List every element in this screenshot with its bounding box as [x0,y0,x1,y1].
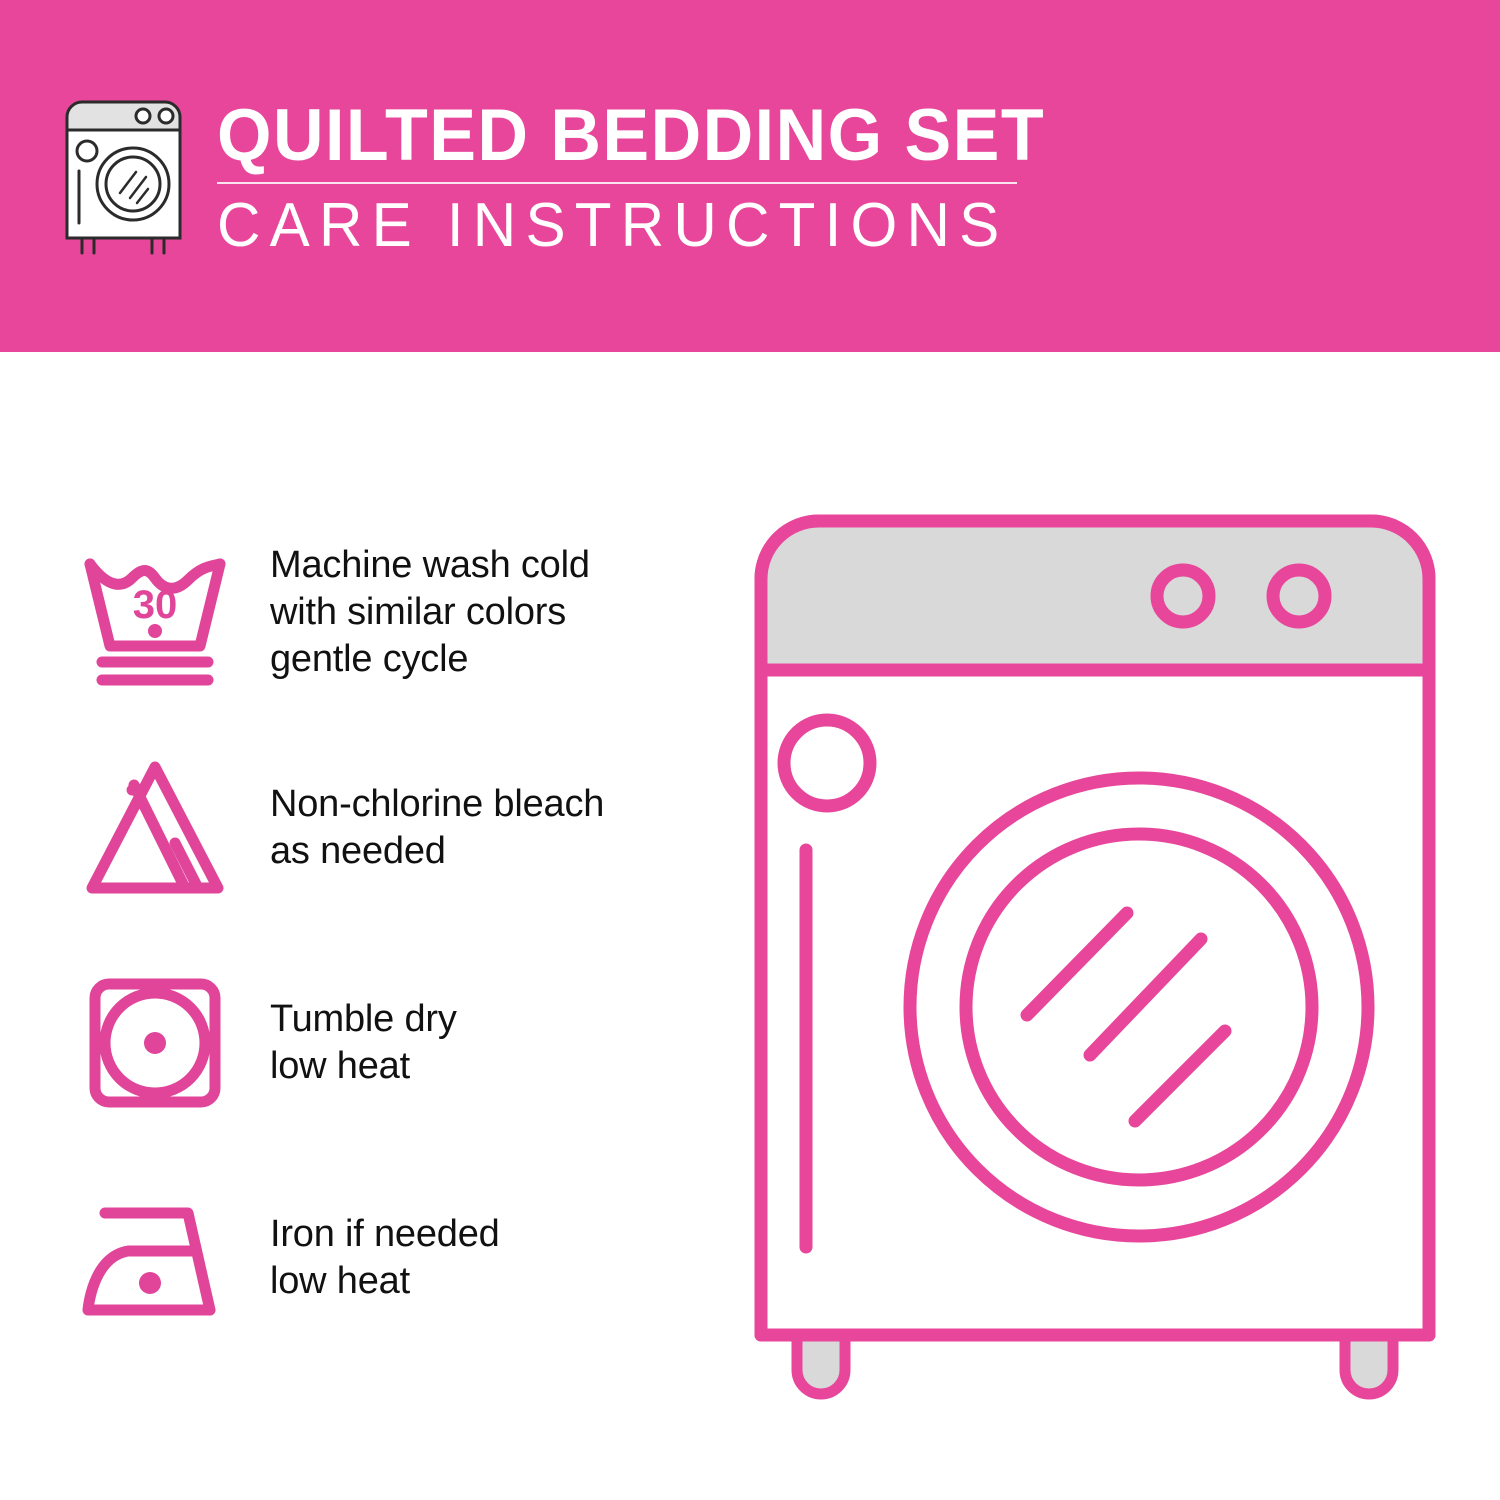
front-load-washing-machine-illustration [735,495,1455,1435]
wash-basin-30-gentle-icon: 30 [70,530,240,695]
wash-temperature-value: 30 [133,583,178,627]
care-label-bleach: Non-chlorine bleach as needed [270,781,604,875]
washing-machine-icon [60,95,195,260]
page-title: QUILTED BEDDING SET [217,97,985,175]
header-banner: QUILTED BEDDING SET CARE INSTRUCTIONS [0,0,1500,352]
title-divider [217,182,1017,184]
care-row-tumble-dry: Tumble dry low heat [70,935,710,1150]
header-title-block: QUILTED BEDDING SET CARE INSTRUCTIONS [217,95,1017,259]
care-label-iron: Iron if needed low heat [270,1211,500,1305]
care-row-iron: Iron if needed low heat [70,1150,710,1365]
non-chlorine-bleach-triangle-icon [70,745,240,910]
iron-low-heat-icon [70,1175,240,1340]
knob-left [1157,570,1209,622]
care-row-bleach: Non-chlorine bleach as needed [70,720,710,935]
tumble-dry-low-icon [70,960,240,1125]
knob-right [1273,570,1325,622]
detergent-drawer [784,720,870,806]
header-content: QUILTED BEDDING SET CARE INSTRUCTIONS [60,95,1017,260]
care-label-wash: Machine wash cold with similar colors ge… [270,542,590,683]
care-row-wash: 30 Machine wash cold with similar colors… [70,505,710,720]
care-label-tumble-dry: Tumble dry low heat [270,996,457,1090]
page-subtitle: CARE INSTRUCTIONS [217,193,993,259]
care-instructions-list: 30 Machine wash cold with similar colors… [70,505,710,1365]
